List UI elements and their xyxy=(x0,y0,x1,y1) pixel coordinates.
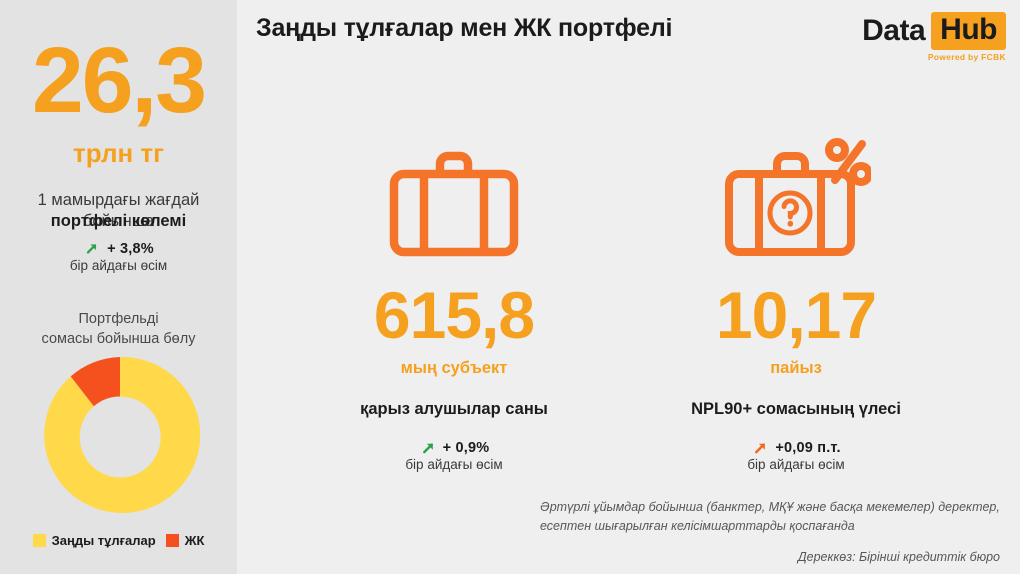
hero-delta-row: + 3,8% xyxy=(0,240,237,257)
legend-swatch-orange xyxy=(166,534,179,547)
logo-text-data: Data xyxy=(862,14,925,48)
donut-title-line2: сомасы бойынша бөлу xyxy=(0,330,237,350)
stat-value-npl90: 10,17 xyxy=(646,282,946,348)
donut-title-line1: Портфельді xyxy=(78,311,158,327)
footnote-line-2: есептен шығарылған келісімшарттарды қосп… xyxy=(540,517,1000,536)
stat-delta-row-npl90: +0,09 п.т. xyxy=(646,439,946,456)
stat-delta-value-borrowers: + 0,9% xyxy=(443,440,490,456)
legend-label-legal-entities: Заңды тұлғалар xyxy=(52,533,156,548)
stat-unit-borrowers: мың субъект xyxy=(304,359,604,378)
stat-delta-caption-npl90: бір айдағы өсім xyxy=(646,457,946,472)
hero-delta-value: + 3,8% xyxy=(107,241,154,257)
hero-caption-metric: портфелі көлемі xyxy=(0,211,237,232)
legend-item-legal-entities: Заңды тұлғалар xyxy=(33,533,156,548)
arrow-up-right-icon xyxy=(83,240,100,257)
stat-value-borrowers: 615,8 xyxy=(304,282,604,348)
stat-card-npl90: 10,17 пайыз NPL90+ сомасының үлесі +0,09… xyxy=(646,130,946,472)
datahub-logo: Data Hub Powered by FCBK xyxy=(862,12,1006,62)
stat-delta-block-npl90: +0,09 п.т. бір айдағы өсім xyxy=(646,439,946,472)
hero-delta-caption: бір айдағы өсім xyxy=(0,258,237,273)
legend-swatch-yellow xyxy=(33,534,46,547)
page-title: Заңды тұлғалар мен ЖК портфелі xyxy=(256,14,672,43)
hero-unit: трлн тг xyxy=(0,140,237,166)
footnote-line-1: Әртүрлі ұйымдар бойынша (банктер, МҚҰ жә… xyxy=(540,498,1000,517)
donut-chart xyxy=(40,355,200,515)
briefcase-percent-question-icon xyxy=(646,130,946,260)
logo-powered-by: Powered by FCBK xyxy=(862,52,1006,62)
stat-unit-npl90: пайыз xyxy=(646,359,946,378)
stat-card-borrowers: 615,8 мың субъект қарыз алушылар саны + … xyxy=(304,130,604,472)
arrow-up-right-icon xyxy=(751,439,768,456)
stat-delta-block-borrowers: + 0,9% бір айдағы өсім xyxy=(304,439,604,472)
donut-chart-title: Портфельді сомасы бойынша бөлу xyxy=(0,310,237,349)
stat-label-borrowers: қарыз алушылар саны xyxy=(304,400,604,419)
legend-item-individual-entrepreneurs: ЖК xyxy=(166,533,205,548)
legend-label-individual-entrepreneurs: ЖК xyxy=(185,533,205,548)
donut-legend: Заңды тұлғалар ЖК xyxy=(0,533,237,548)
logo-text-hub: Hub xyxy=(931,12,1006,50)
footnote-source: Дереккөз: Бірінші кредиттік бюро xyxy=(540,548,1000,567)
arrow-up-right-icon xyxy=(419,439,436,456)
hero-value: 26,3 xyxy=(0,34,237,127)
logo-wordmark-row: Data Hub xyxy=(862,12,1006,50)
left-summary-panel: 26,3 трлн тг 1 мамырдағы жағдай бойынша … xyxy=(0,0,237,574)
stat-delta-value-npl90: +0,09 п.т. xyxy=(775,440,840,456)
hero-delta-block: + 3,8% бір айдағы өсім xyxy=(0,240,237,273)
stat-delta-row-borrowers: + 0,9% xyxy=(304,439,604,456)
infographic-page: 26,3 трлн тг 1 мамырдағы жағдай бойынша … xyxy=(0,0,1020,574)
briefcase-icon xyxy=(304,130,604,260)
footnote: Әртүрлі ұйымдар бойынша (банктер, МҚҰ жә… xyxy=(540,498,1000,566)
donut-slice-legal-entities xyxy=(44,357,200,513)
stat-label-npl90: NPL90+ сомасының үлесі xyxy=(646,400,946,419)
stat-delta-caption-borrowers: бір айдағы өсім xyxy=(304,457,604,472)
